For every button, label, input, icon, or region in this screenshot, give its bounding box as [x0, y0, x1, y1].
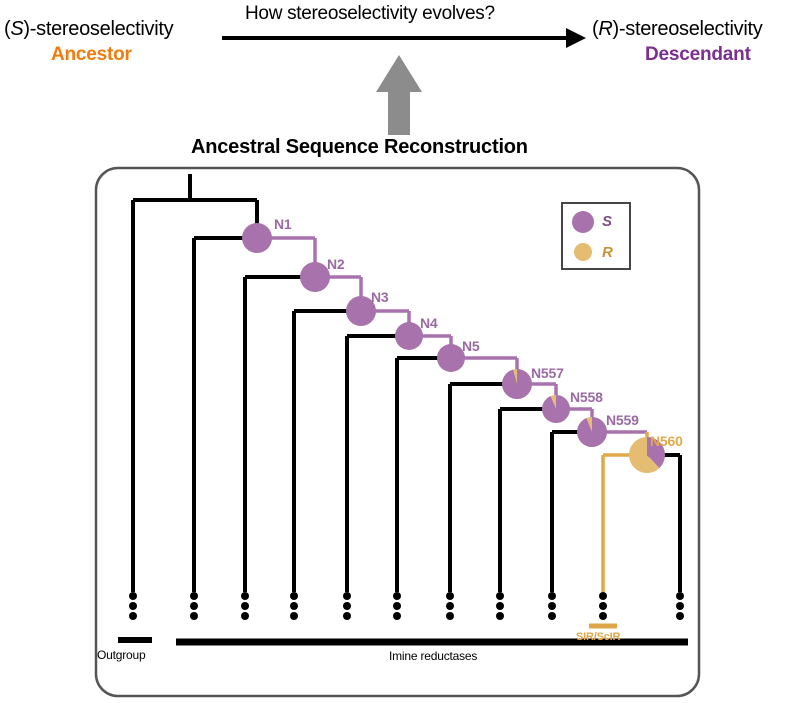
tip-dot-1-2 [190, 612, 198, 620]
tip-dot-6-1 [446, 602, 454, 610]
outgroup-label: Outgroup [97, 648, 145, 662]
tip-dot-1-1 [190, 602, 198, 610]
legend-box [562, 203, 630, 269]
evolution-arrow [222, 28, 586, 48]
node-label-n558: N558 [570, 389, 603, 405]
tip-dot-6-0 [446, 592, 454, 600]
imine-reductases-label: Imine reductases [389, 649, 477, 663]
node-marker-n2 [300, 262, 330, 292]
tip-dot-9-1 [599, 602, 607, 610]
node-label-n2: N2 [327, 256, 345, 272]
tip-dot-8-0 [548, 592, 556, 600]
node-marker-n5 [437, 344, 465, 372]
tip-ellipsis-dots [129, 592, 684, 620]
node-label-n557: N557 [531, 365, 564, 381]
tip-dot-4-1 [343, 602, 351, 610]
tip-dot-10-2 [676, 612, 684, 620]
tip-dot-3-0 [290, 592, 298, 600]
tip-dot-8-1 [548, 602, 556, 610]
legend-r-swatch [574, 243, 592, 261]
node-label-n4: N4 [420, 315, 438, 331]
figure-root: (S)-stereoselectivity Ancestor (R)-stere… [0, 0, 799, 703]
node-marker-n557-s-wedge [502, 369, 532, 399]
tip-dot-2-1 [241, 602, 249, 610]
node-label-n3: N3 [371, 289, 389, 305]
tip-dot-9-2 [599, 612, 607, 620]
tip-dot-9-0 [599, 592, 607, 600]
tip-dot-3-2 [290, 612, 298, 620]
figure-vector-layer [0, 0, 799, 703]
tip-dot-10-1 [676, 602, 684, 610]
node-label-n560: N560 [650, 433, 683, 449]
tip-dot-1-0 [190, 592, 198, 600]
node-marker-n4 [395, 322, 423, 350]
tip-dot-2-2 [241, 612, 249, 620]
tip-dot-5-0 [393, 592, 401, 600]
node-label-n559: N559 [606, 412, 639, 428]
legend-label-s: S [602, 213, 612, 230]
tip-dot-5-2 [393, 612, 401, 620]
tip-dot-0-1 [129, 602, 137, 610]
legend-label-r: R [602, 244, 613, 261]
node-label-n5: N5 [462, 338, 480, 354]
tip-dot-0-0 [129, 592, 137, 600]
tip-dot-7-1 [496, 602, 504, 610]
tip-dot-10-0 [676, 592, 684, 600]
tip-dot-7-2 [496, 612, 504, 620]
tip-dot-2-0 [241, 592, 249, 600]
node-marker-n1 [242, 223, 272, 253]
tip-dot-5-1 [393, 602, 401, 610]
tip-dot-7-0 [496, 592, 504, 600]
tip-dot-3-1 [290, 602, 298, 610]
tip-dot-0-2 [129, 612, 137, 620]
tip-dot-6-2 [446, 612, 454, 620]
asr-up-arrow [376, 55, 422, 135]
tip-dot-4-2 [343, 612, 351, 620]
sir-scir-label: SIR/ScIR [576, 631, 620, 643]
legend-s-swatch [572, 211, 594, 233]
tip-dot-4-0 [343, 592, 351, 600]
node-label-n1: N1 [274, 216, 292, 232]
tip-dot-8-2 [548, 612, 556, 620]
